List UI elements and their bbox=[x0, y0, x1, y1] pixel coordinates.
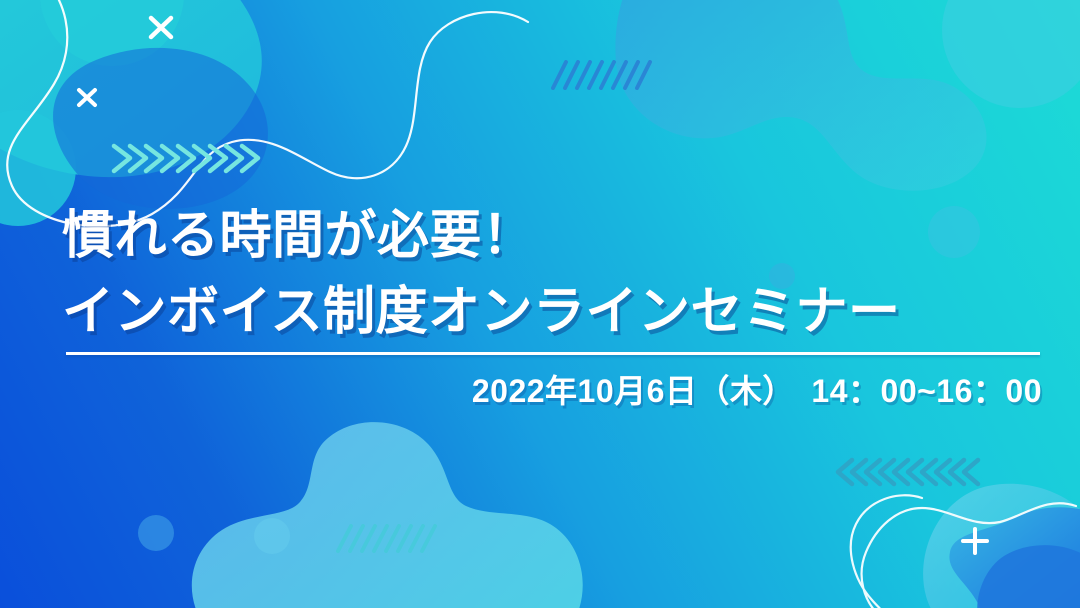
seminar-datetime: 2022年10月6日（木） 14：00~16：00 bbox=[472, 366, 1042, 412]
slide-content: 慣れる時間が必要！ インボイス制度オンラインセミナー 2022年10月6日（木）… bbox=[0, 0, 1080, 608]
seminar-banner-slide: 慣れる時間が必要！ インボイス制度オンラインセミナー 2022年10月6日（木）… bbox=[0, 0, 1080, 608]
title-divider-rule bbox=[66, 352, 1040, 355]
seminar-title-line-1: 慣れる時間が必要！ bbox=[62, 206, 535, 266]
seminar-title-line-2: インボイス制度オンラインセミナー bbox=[62, 282, 900, 342]
